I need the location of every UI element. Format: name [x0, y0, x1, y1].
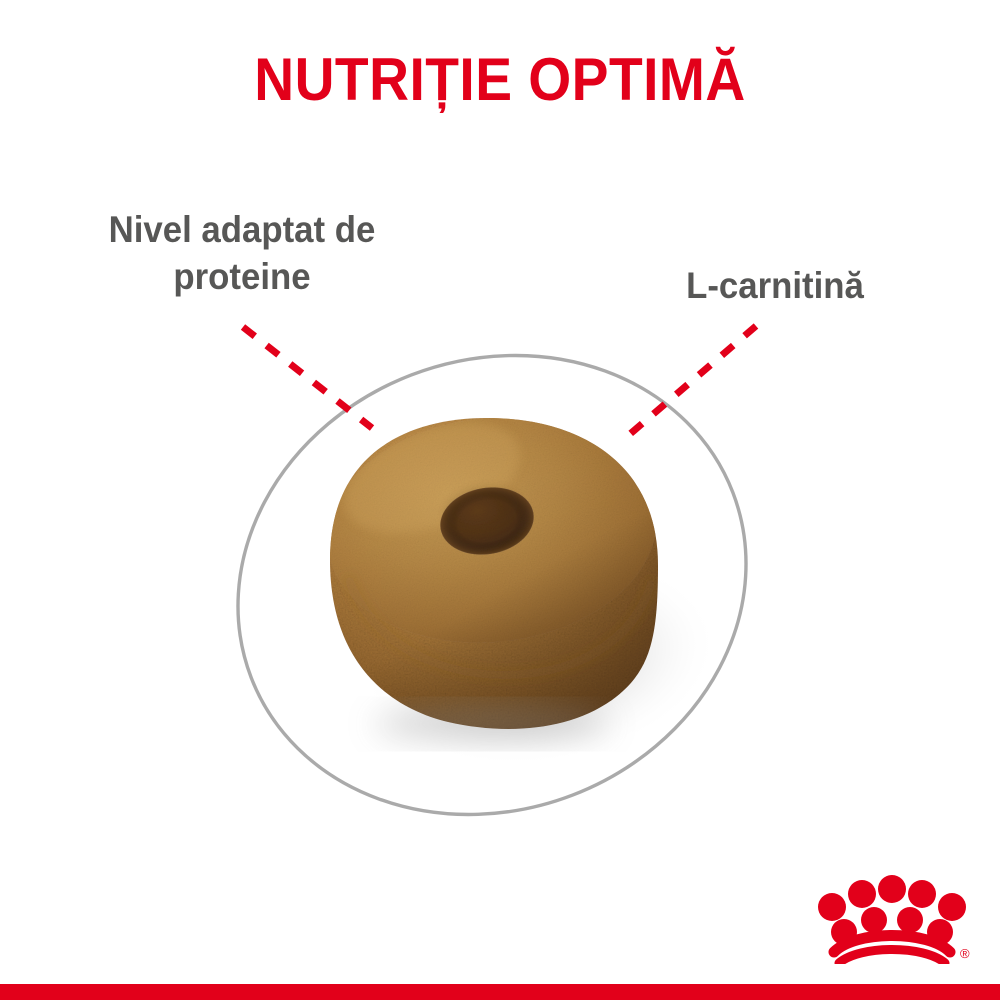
callout-label-l-carnitine: L-carnitină: [620, 262, 930, 309]
leader-line-carnitine: [630, 326, 756, 434]
royal-canin-crown-logo: ®: [812, 872, 972, 964]
callout-label-protein-level: Nivel adaptat de proteine: [63, 206, 420, 301]
trademark-symbol: ®: [960, 946, 970, 961]
page-title: NUTRIȚIE OPTIMĂ: [40, 48, 960, 111]
kibble-illustration: [0, 0, 1000, 960]
product-feature-banner: NUTRIȚIE OPTIMĂ Nivel adaptat de protein…: [0, 0, 1000, 1000]
leader-line-protein: [243, 327, 372, 428]
bottom-accent-bar: [0, 984, 1000, 1000]
crown-arcs: [834, 936, 950, 964]
